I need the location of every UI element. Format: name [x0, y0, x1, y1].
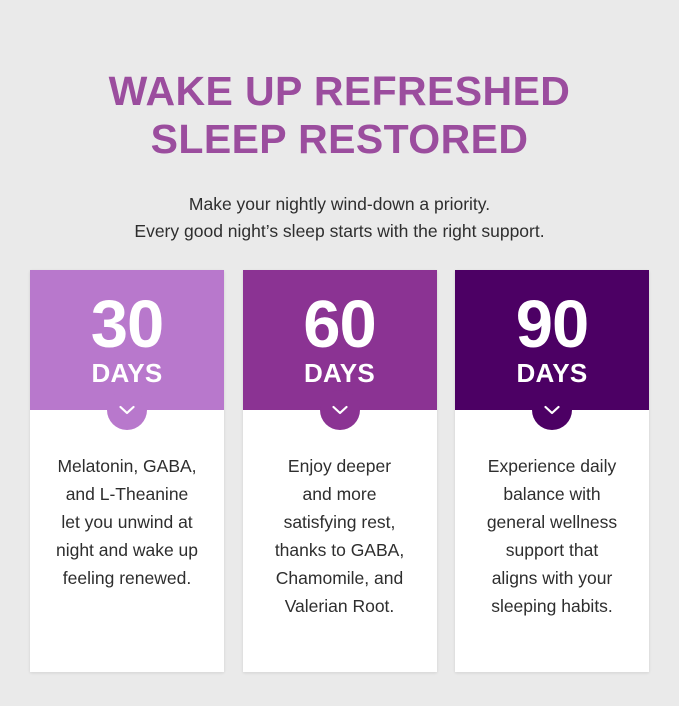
tier-body-line: Valerian Root. — [257, 592, 423, 620]
tier-duration-number: 90 — [516, 293, 589, 357]
tier-duration-number: 60 — [303, 293, 376, 357]
tier-body-line: Experience daily — [469, 452, 635, 480]
tier-body-line: support that — [469, 536, 635, 564]
tier-body-line: thanks to GABA, — [257, 536, 423, 564]
chevron-down-icon — [332, 405, 348, 415]
tier-card: 90 DAYS Experience daily balance with ge… — [455, 270, 649, 672]
tier-body-line: and more — [257, 480, 423, 508]
tier-duration-unit: DAYS — [516, 359, 587, 387]
tier-card-body: Melatonin, GABA, and L-Theanine let you … — [30, 410, 224, 672]
tier-body-line: general wellness — [469, 508, 635, 536]
tier-card-header: 60 DAYS — [243, 270, 437, 410]
tier-duration-unit: DAYS — [304, 359, 375, 387]
chevron-down-icon — [119, 405, 135, 415]
tier-body-line: let you unwind at — [44, 508, 210, 536]
tier-body-line: night and wake up — [44, 536, 210, 564]
tier-body-line: and L-Theanine — [44, 480, 210, 508]
tier-card-header: 30 DAYS — [30, 270, 224, 410]
tier-body-line: balance with — [469, 480, 635, 508]
headline-line-2: SLEEP RESTORED — [0, 115, 679, 163]
tier-card: 30 DAYS Melatonin, GABA, and L-Theanine … — [30, 270, 224, 672]
page-subtitle: Make your nightly wind-down a priority. … — [0, 191, 679, 245]
tier-body-line: Enjoy deeper — [257, 452, 423, 480]
tier-card-list: 30 DAYS Melatonin, GABA, and L-Theanine … — [30, 270, 649, 672]
infographic-page: WAKE UP REFRESHED SLEEP RESTORED Make yo… — [0, 27, 679, 706]
tier-body-line: Melatonin, GABA, — [44, 452, 210, 480]
tier-duration-unit: DAYS — [91, 359, 162, 387]
headline-line-1: WAKE UP REFRESHED — [0, 67, 679, 115]
page-title: WAKE UP REFRESHED SLEEP RESTORED — [0, 27, 679, 163]
tier-card-body: Experience daily balance with general we… — [455, 410, 649, 672]
subtitle-line-2: Every good night’s sleep starts with the… — [0, 218, 679, 245]
chevron-down-icon — [544, 405, 560, 415]
tier-card-header: 90 DAYS — [455, 270, 649, 410]
tier-card: 60 DAYS Enjoy deeper and more satisfying… — [243, 270, 437, 672]
chevron-down-badge — [320, 390, 360, 430]
tier-body-line: satisfying rest, — [257, 508, 423, 536]
tier-card-body: Enjoy deeper and more satisfying rest, t… — [243, 410, 437, 672]
tier-body-line: Chamomile, and — [257, 564, 423, 592]
tier-body-line: feeling renewed. — [44, 564, 210, 592]
subtitle-line-1: Make your nightly wind-down a priority. — [0, 191, 679, 218]
tier-body-line: sleeping habits. — [469, 592, 635, 620]
tier-body-line: aligns with your — [469, 564, 635, 592]
tier-duration-number: 30 — [91, 293, 164, 357]
